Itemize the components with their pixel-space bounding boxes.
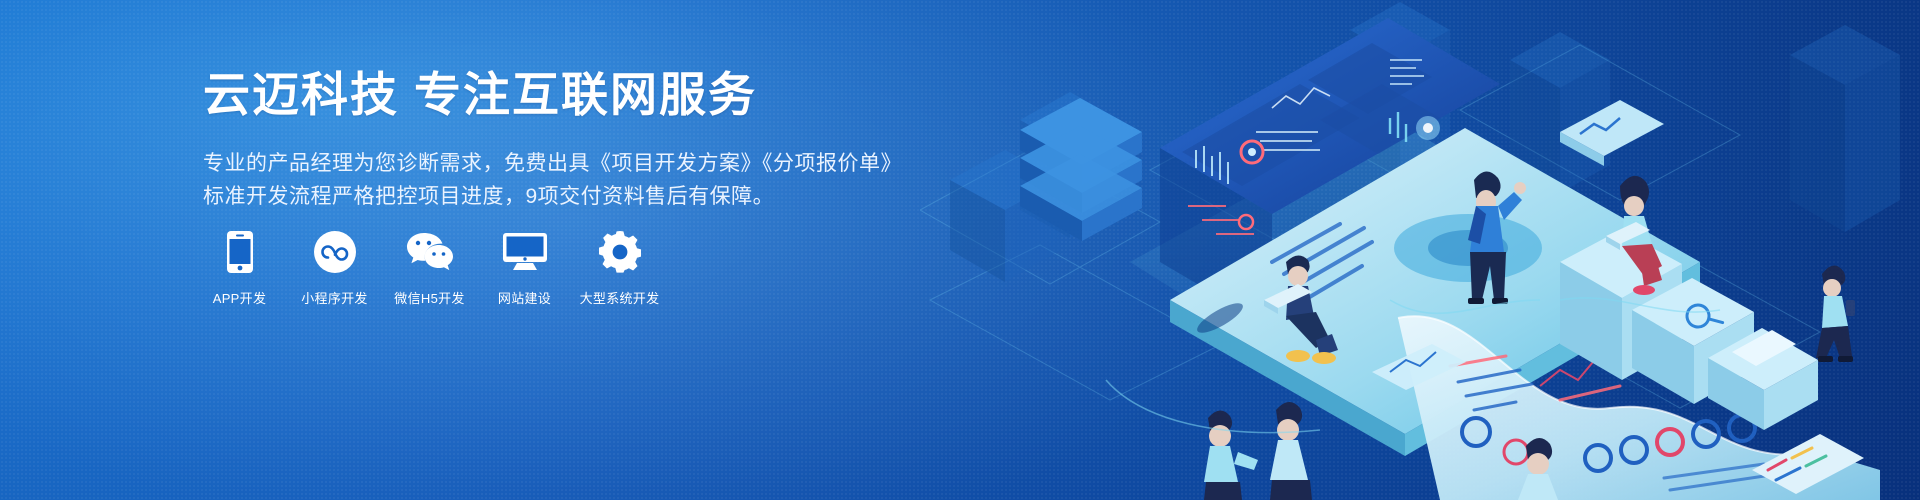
- hero-banner: 云迈科技 专注互联网服务 专业的产品经理为您诊断需求，免费出具《项目开发方案》《…: [0, 0, 1920, 500]
- service-label: 大型系统开发: [580, 288, 660, 307]
- wechat-icon: [407, 230, 453, 274]
- service-label: 网站建设: [498, 288, 551, 307]
- gear-icon: [599, 230, 641, 274]
- isometric-illustration: [920, 0, 1920, 500]
- service-item-app[interactable]: APP开发: [203, 230, 276, 307]
- service-label: 微信H5开发: [394, 288, 464, 307]
- page-title: 云迈科技 专注互联网服务: [203, 68, 963, 123]
- service-list: APP开发 小程序开发 微信: [203, 230, 656, 307]
- subtitle-line-2: 标准开发流程严格把控项目进度，9项交付资料售后有保障。: [203, 180, 963, 213]
- service-item-large-system[interactable]: 大型系统开发: [583, 230, 656, 307]
- mini-program-icon: [314, 230, 356, 274]
- service-item-wechat-h5[interactable]: 微信H5开发: [393, 230, 466, 307]
- hero-copy: 云迈科技 专注互联网服务 专业的产品经理为您诊断需求，免费出具《项目开发方案》《…: [203, 68, 963, 213]
- service-item-website[interactable]: 网站建设: [488, 230, 561, 307]
- service-label: APP开发: [213, 288, 267, 307]
- subtitle-line-1: 专业的产品经理为您诊断需求，免费出具《项目开发方案》《分项报价单》: [203, 147, 963, 180]
- service-label: 小程序开发: [301, 288, 368, 307]
- desktop-monitor-icon: [503, 230, 547, 274]
- mobile-phone-icon: [227, 230, 253, 274]
- service-item-mini-program[interactable]: 小程序开发: [298, 230, 371, 307]
- hero-subtitle: 专业的产品经理为您诊断需求，免费出具《项目开发方案》《分项报价单》 标准开发流程…: [203, 147, 963, 213]
